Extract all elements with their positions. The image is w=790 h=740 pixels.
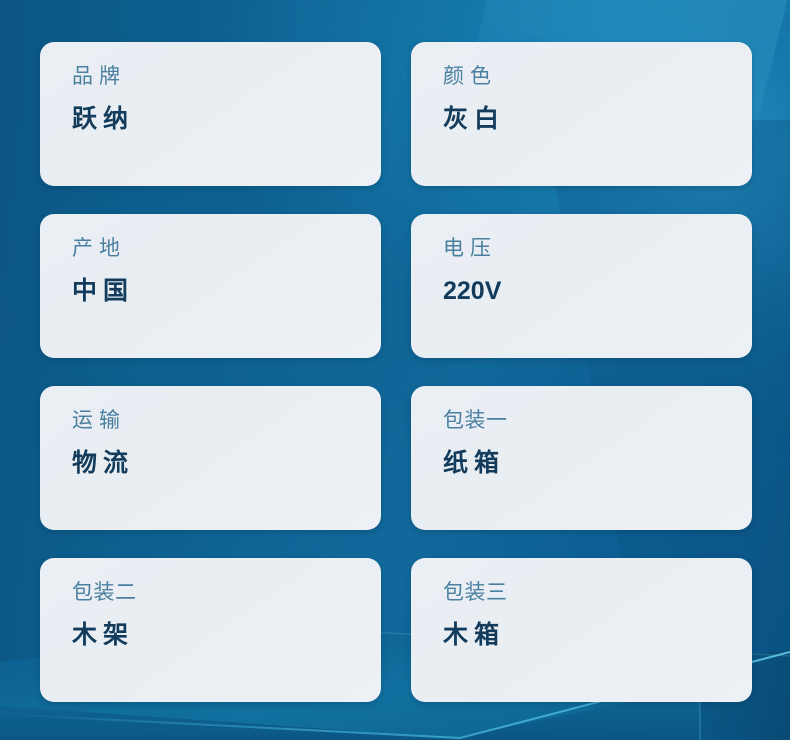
spec-card-transport[interactable]: 运输 物流 xyxy=(40,386,381,530)
spec-label: 颜色 xyxy=(443,66,752,87)
spec-label: 包装二 xyxy=(72,582,381,603)
spec-label: 品牌 xyxy=(72,66,381,87)
spec-card-grid: 品牌 跃纳 颜色 灰白 产地 中国 电压 220V 运输 物流 包装一 纸箱 包… xyxy=(40,42,752,702)
spec-label: 包装一 xyxy=(443,410,752,431)
spec-label: 电压 xyxy=(443,238,752,259)
spec-label: 包装三 xyxy=(443,582,752,603)
spec-value: 中国 xyxy=(72,279,381,304)
spec-card-voltage[interactable]: 电压 220V xyxy=(411,214,752,358)
spec-value: 220V xyxy=(443,279,752,304)
spec-card-packaging-two[interactable]: 包装二 木架 xyxy=(40,558,381,702)
spec-value: 跃纳 xyxy=(72,107,381,132)
spec-value: 木箱 xyxy=(443,623,752,648)
spec-label: 产地 xyxy=(72,238,381,259)
spec-card-color[interactable]: 颜色 灰白 xyxy=(411,42,752,186)
spec-card-origin[interactable]: 产地 中国 xyxy=(40,214,381,358)
spec-card-packaging-three[interactable]: 包装三 木箱 xyxy=(411,558,752,702)
spec-label: 运输 xyxy=(72,410,381,431)
spec-value: 物流 xyxy=(72,451,381,476)
spec-value: 灰白 xyxy=(443,107,752,132)
spec-card-brand[interactable]: 品牌 跃纳 xyxy=(40,42,381,186)
spec-card-packaging-one[interactable]: 包装一 纸箱 xyxy=(411,386,752,530)
product-spec-panel: 品牌 跃纳 颜色 灰白 产地 中国 电压 220V 运输 物流 包装一 纸箱 包… xyxy=(0,0,790,740)
spec-value: 纸箱 xyxy=(443,451,752,476)
spec-value: 木架 xyxy=(72,623,381,648)
